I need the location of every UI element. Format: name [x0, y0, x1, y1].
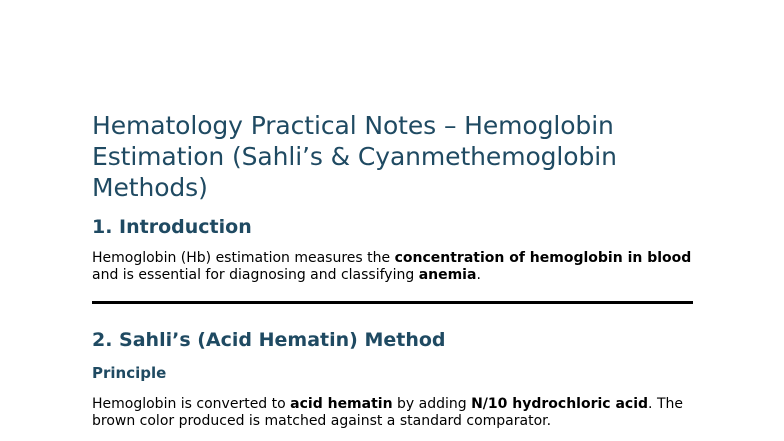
spacer [92, 203, 693, 215]
spacer [92, 383, 693, 396]
introduction-text-part-1: Hemoglobin (Hb) estimation measures the [92, 250, 395, 266]
spacer [92, 352, 693, 363]
sahli-bold-acid-hematin: acid hematin [290, 396, 392, 412]
document-content: Hematology Practical Notes – Hemoglobin … [92, 110, 693, 430]
sahli-text-part-2: by adding [393, 396, 472, 412]
document-page: Hematology Practical Notes – Hemoglobin … [0, 0, 784, 441]
introduction-text-part-2: and is essential for diagnosing and clas… [92, 267, 419, 283]
page-title: Hematology Practical Notes – Hemoglobin … [92, 110, 693, 203]
spacer [92, 239, 693, 250]
spacer [92, 304, 693, 328]
introduction-bold-concentration: concentration of hemoglobin in blood [395, 250, 692, 266]
sahli-text-part-1: Hemoglobin is converted to [92, 396, 290, 412]
section-heading-sahli-method: 2. Sahli’s (Acid Hematin) Method [92, 328, 693, 352]
introduction-text-part-3: . [476, 267, 480, 283]
spacer [92, 284, 693, 301]
section-heading-introduction: 1. Introduction [92, 215, 693, 239]
introduction-paragraph: Hemoglobin (Hb) estimation measures the … [92, 250, 693, 284]
sahli-bold-hydrochloric-acid: N/10 hydrochloric acid [471, 396, 648, 412]
introduction-bold-anemia: anemia [419, 267, 477, 283]
subheading-principle: Principle [92, 363, 693, 383]
sahli-principle-paragraph: Hemoglobin is converted to acid hematin … [92, 396, 693, 430]
